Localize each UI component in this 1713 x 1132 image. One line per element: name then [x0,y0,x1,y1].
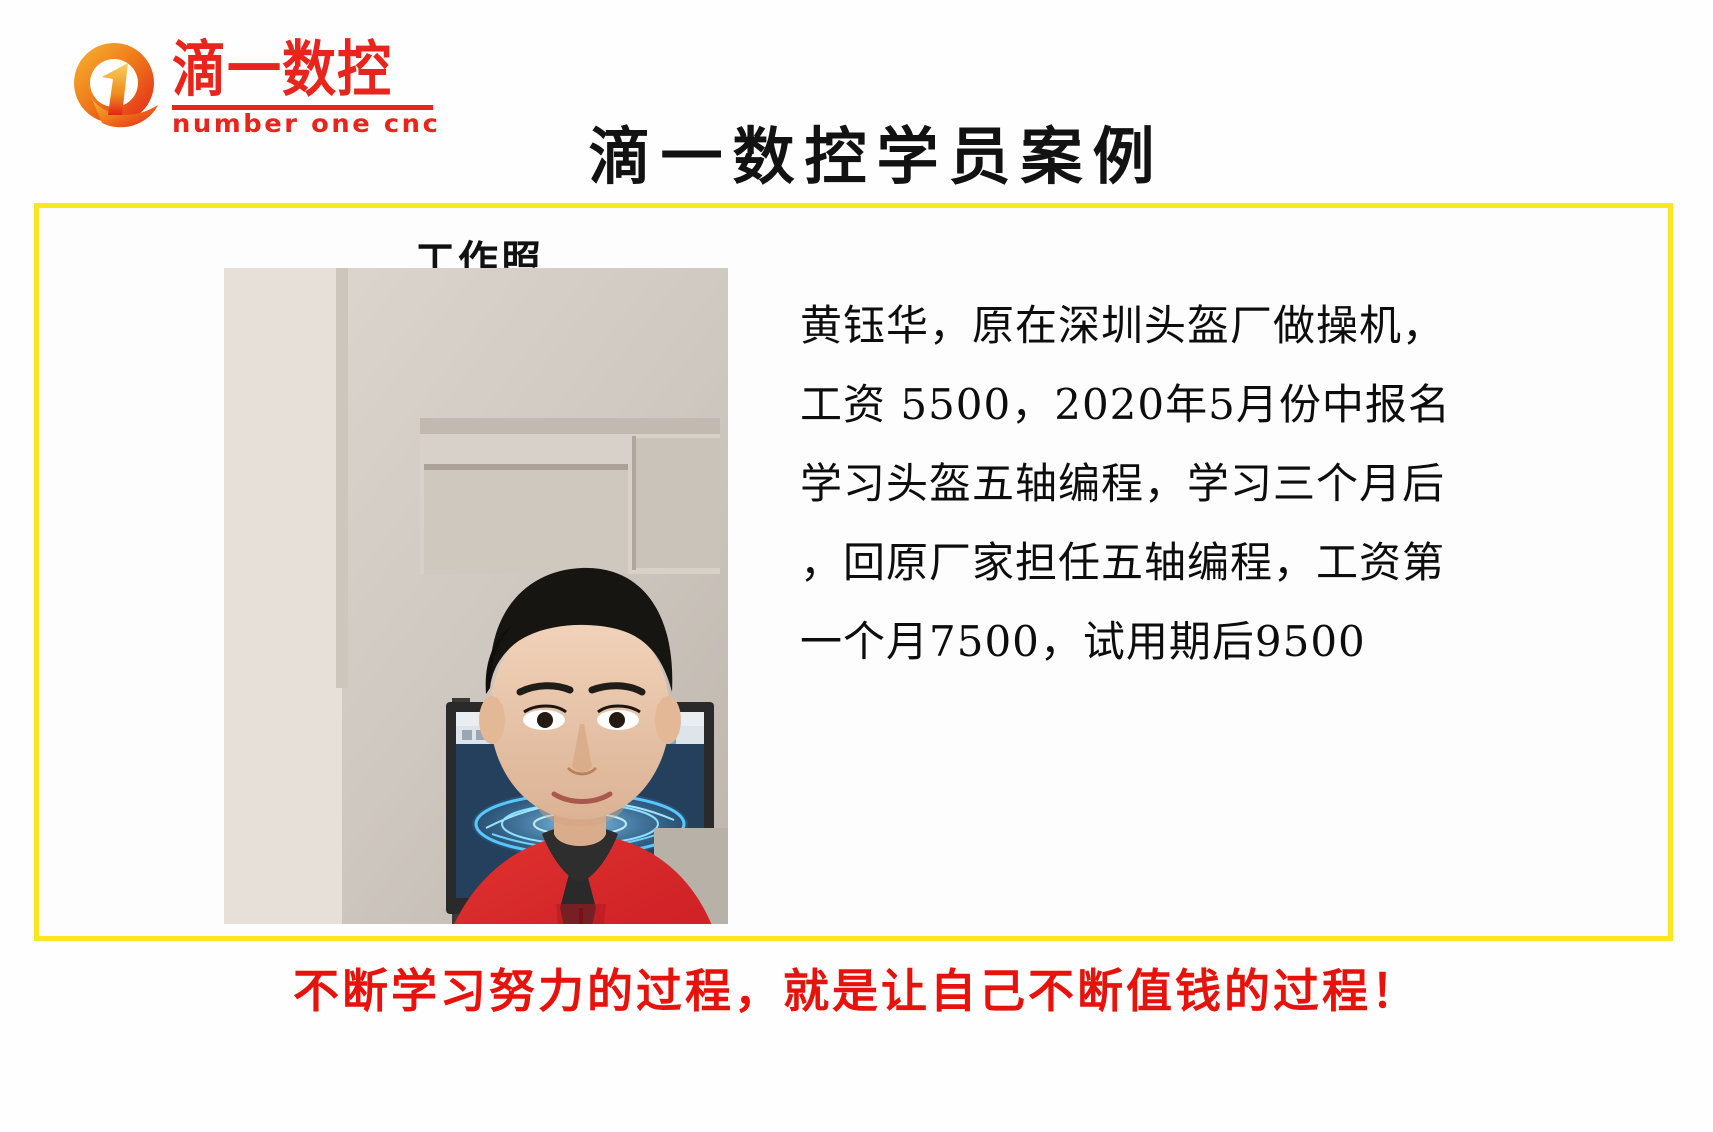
case-text-line: 学习头盔五轴编程，学习三个月后 [800,444,1560,523]
case-text-line: ，回原厂家担任五轴编程，工资第 [800,523,1560,602]
case-text-line: 一个月7500，试用期后9500 [800,602,1560,681]
case-text-line: 黄钰华，原在深圳头盔厂做操机， [800,286,1560,365]
page-title: 滴一数控学员案例 [0,106,1713,196]
logo-chinese-name: 滴一数控 [172,38,433,103]
case-description-text: 黄钰华，原在深圳头盔厂做操机， 工资 5500，2020年5月份中报名 学习头盔… [800,286,1560,681]
case-text-line: 工资 5500，2020年5月份中报名 [800,365,1560,444]
footer-slogan: 不断学习努力的过程，就是让自己不断值钱的过程！ [0,955,1713,1021]
slide-canvas: 滴一数控 number one cnc 滴一数控学员案例 工作照 [0,0,1713,1132]
student-workstation-photo [224,268,728,924]
